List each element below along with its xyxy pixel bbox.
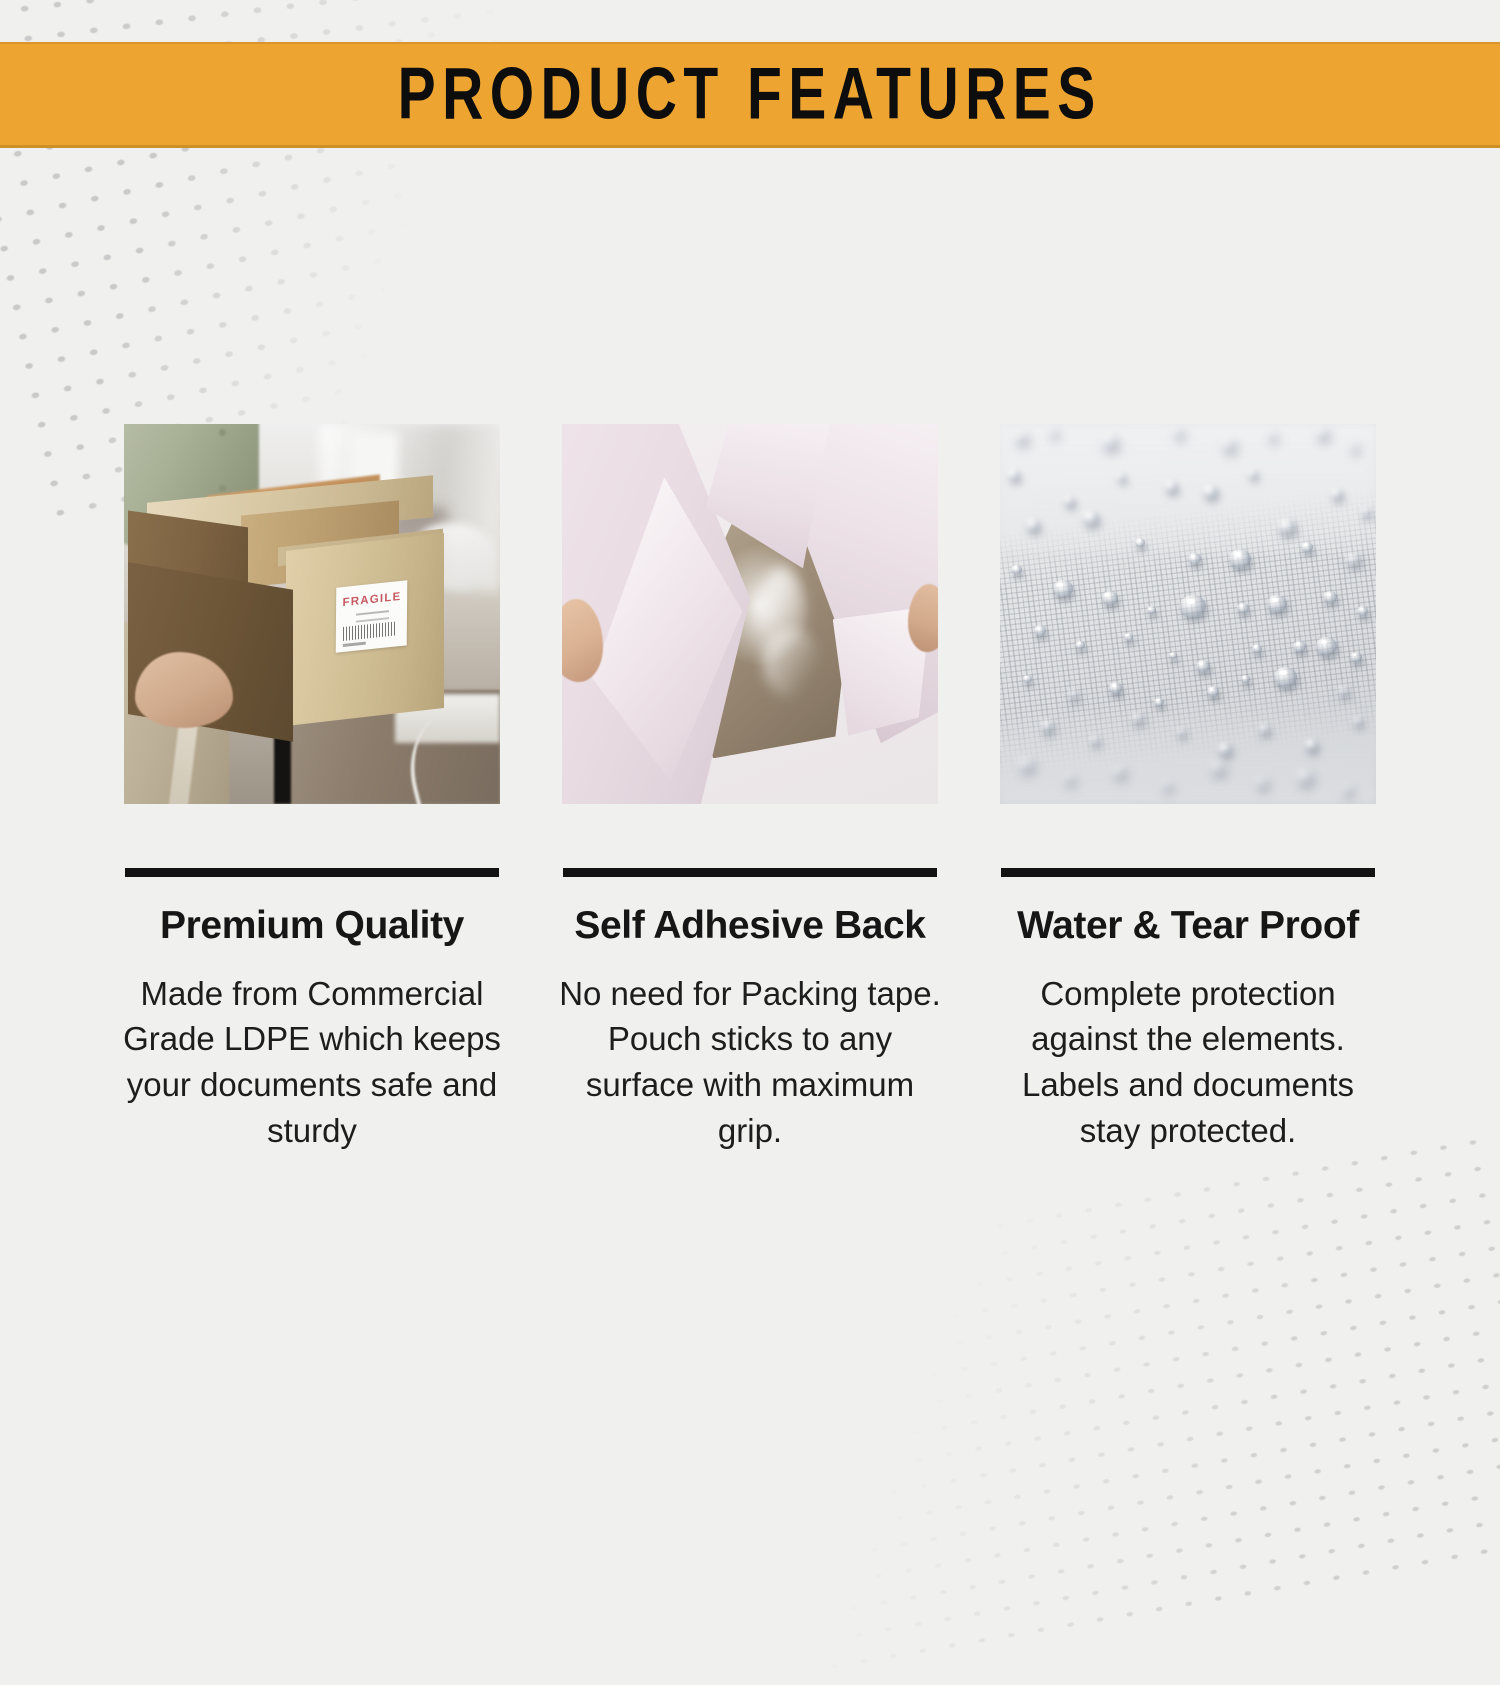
water-droplet (1135, 538, 1145, 547)
feature-grid: FRAGILE Premium Quality Made from Commer… (124, 424, 1376, 1153)
water-droplet (1207, 686, 1219, 696)
water-droplet (1316, 428, 1329, 439)
water-droplet (1015, 432, 1028, 443)
label-fine-print (356, 610, 389, 615)
water-droplet (1041, 720, 1054, 731)
water-droplet (1350, 652, 1362, 662)
dot-pattern (717, 1127, 1500, 1685)
water-droplet (1049, 428, 1058, 436)
water-droplet (1256, 777, 1268, 787)
feature-card-self-adhesive-back: Self Adhesive Back No need for Packing t… (562, 424, 938, 1153)
water-droplet (1196, 660, 1210, 672)
water-droplet (1124, 633, 1133, 641)
water-droplet (1203, 485, 1218, 498)
water-droplet (1350, 443, 1359, 451)
water-droplet (1162, 781, 1172, 790)
feature-title: Self Adhesive Back (574, 906, 925, 947)
depth-blur-top (1000, 424, 1376, 553)
depth-blur-bottom (1000, 705, 1376, 804)
water-droplet (1211, 762, 1225, 774)
header-banner: PRODUCT FEATURES (0, 42, 1500, 148)
water-tear-proof-photo (1000, 424, 1376, 804)
water-droplet (1169, 652, 1177, 659)
water-droplet (1008, 470, 1020, 480)
water-droplet (1301, 542, 1313, 552)
water-droplet (1109, 682, 1122, 693)
water-droplet (1297, 770, 1313, 784)
water-droplet (1267, 432, 1277, 441)
feature-description: Complete protection against the elements… (992, 971, 1384, 1153)
water-droplet (1023, 675, 1032, 683)
water-droplet (1252, 644, 1262, 653)
water-droplet (1177, 728, 1186, 736)
water-droplet (1346, 553, 1361, 566)
water-droplet (1293, 641, 1306, 652)
water-droplet (1331, 489, 1343, 499)
water-droplet (1237, 603, 1249, 613)
premium-quality-photo: FRAGILE (124, 424, 500, 804)
water-droplet (1117, 473, 1126, 481)
feature-description: No need for Packing tape. Pouch sticks t… (554, 971, 946, 1153)
self-adhesive-back-photo (562, 424, 938, 804)
feature-divider (125, 868, 499, 877)
halftone-decoration-bottom-right (717, 1127, 1500, 1685)
water-droplet (1361, 508, 1371, 517)
adhesive-sheen-secondary (763, 627, 819, 698)
feature-card-water-tear-proof: Water & Tear Proof Complete protection a… (1000, 424, 1376, 1153)
barcode (343, 621, 397, 641)
water-droplet (1305, 739, 1318, 750)
feature-card-premium-quality: FRAGILE Premium Quality Made from Commer… (124, 424, 500, 1153)
feature-description: Made from Commercial Grade LDPE which ke… (116, 971, 508, 1153)
water-droplet (1222, 439, 1236, 451)
water-droplet (1113, 766, 1126, 777)
fragile-label-text: FRAGILE (343, 591, 402, 609)
page-title: PRODUCT FEATURES (398, 58, 1102, 131)
feature-title: Water & Tear Proof (1017, 906, 1359, 947)
water-droplet (1267, 595, 1287, 612)
water-droplet (1034, 625, 1046, 635)
water-droplet (1102, 591, 1118, 605)
water-droplet (1064, 774, 1075, 783)
water-droplet (1357, 606, 1368, 615)
water-droplet (1316, 637, 1337, 655)
feature-divider (563, 868, 937, 877)
water-droplet (1064, 496, 1075, 505)
water-droplet (1338, 686, 1349, 695)
feature-divider (1001, 868, 1375, 877)
water-droplet (1147, 606, 1156, 614)
water-droplet (1259, 724, 1270, 733)
water-droplet (1053, 580, 1073, 597)
feature-title: Premium Quality (160, 906, 464, 947)
fragile-shipping-label: FRAGILE (336, 580, 408, 652)
water-droplet (1102, 435, 1118, 449)
water-droplet (1083, 511, 1099, 525)
water-droplet (1132, 713, 1144, 723)
water-droplet (1241, 675, 1250, 683)
